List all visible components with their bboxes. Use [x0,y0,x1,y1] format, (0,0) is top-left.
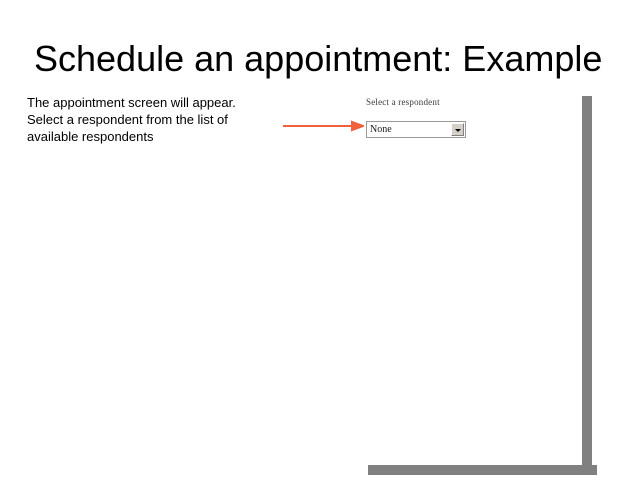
respondent-dropdown[interactable]: None [366,121,466,138]
chevron-down-icon[interactable] [451,123,464,136]
slide-shadow-vertical [582,96,592,475]
body-text: The appointment screen will appear. Sele… [27,94,255,145]
slide-canvas: Schedule an appointment: Example The app… [0,0,640,480]
page-title: Schedule an appointment: Example [34,38,614,80]
respondent-dropdown-value: None [370,124,392,136]
right-arrow-icon [283,119,367,133]
slide-shadow-horizontal [368,465,597,475]
respondent-field-label: Select a respondent [366,97,440,107]
right-arrow-svg [283,119,367,133]
embedded-app-screenshot: Select a respondent None [364,97,472,143]
chevron-down-glyph [455,129,461,132]
